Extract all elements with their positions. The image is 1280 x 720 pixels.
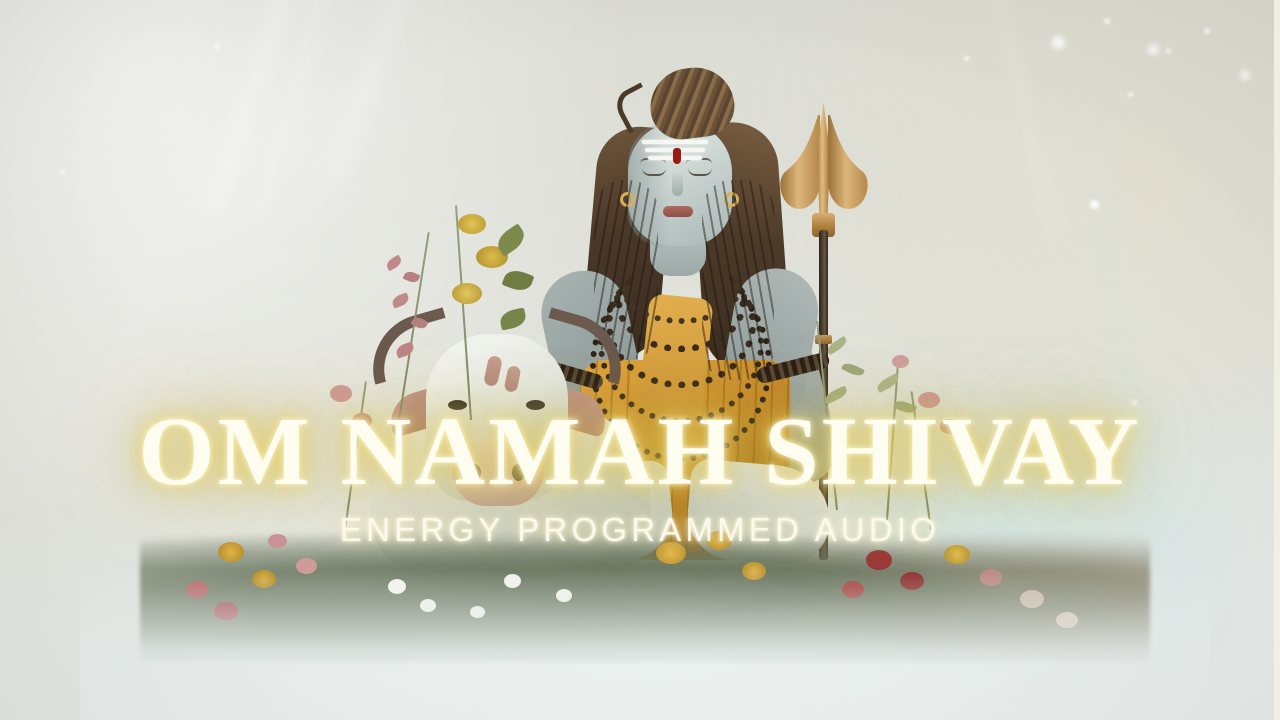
yellow-blossom bbox=[458, 214, 486, 234]
video-frame: OM NAMAH SHIVAY ENERGY PROGRAMMED AUDIO bbox=[0, 0, 1280, 720]
page-title: OM NAMAH SHIVAY bbox=[0, 403, 1280, 501]
flower-petal bbox=[385, 255, 404, 272]
yellow-blossom bbox=[452, 283, 482, 304]
page-subtitle: ENERGY PROGRAMMED AUDIO bbox=[0, 511, 1280, 549]
shiva-hair-strands-right bbox=[702, 180, 774, 380]
third-eye-bindu bbox=[673, 148, 681, 164]
right-edge-strip bbox=[1274, 0, 1280, 720]
crimson-blossom bbox=[866, 550, 892, 570]
tilak-stripe bbox=[642, 140, 708, 144]
shiva-nose bbox=[672, 172, 683, 196]
foliage-fade bbox=[80, 570, 1210, 720]
shiva-lips bbox=[663, 206, 693, 217]
flower-petal bbox=[403, 269, 421, 284]
rose-blossom bbox=[892, 355, 909, 368]
